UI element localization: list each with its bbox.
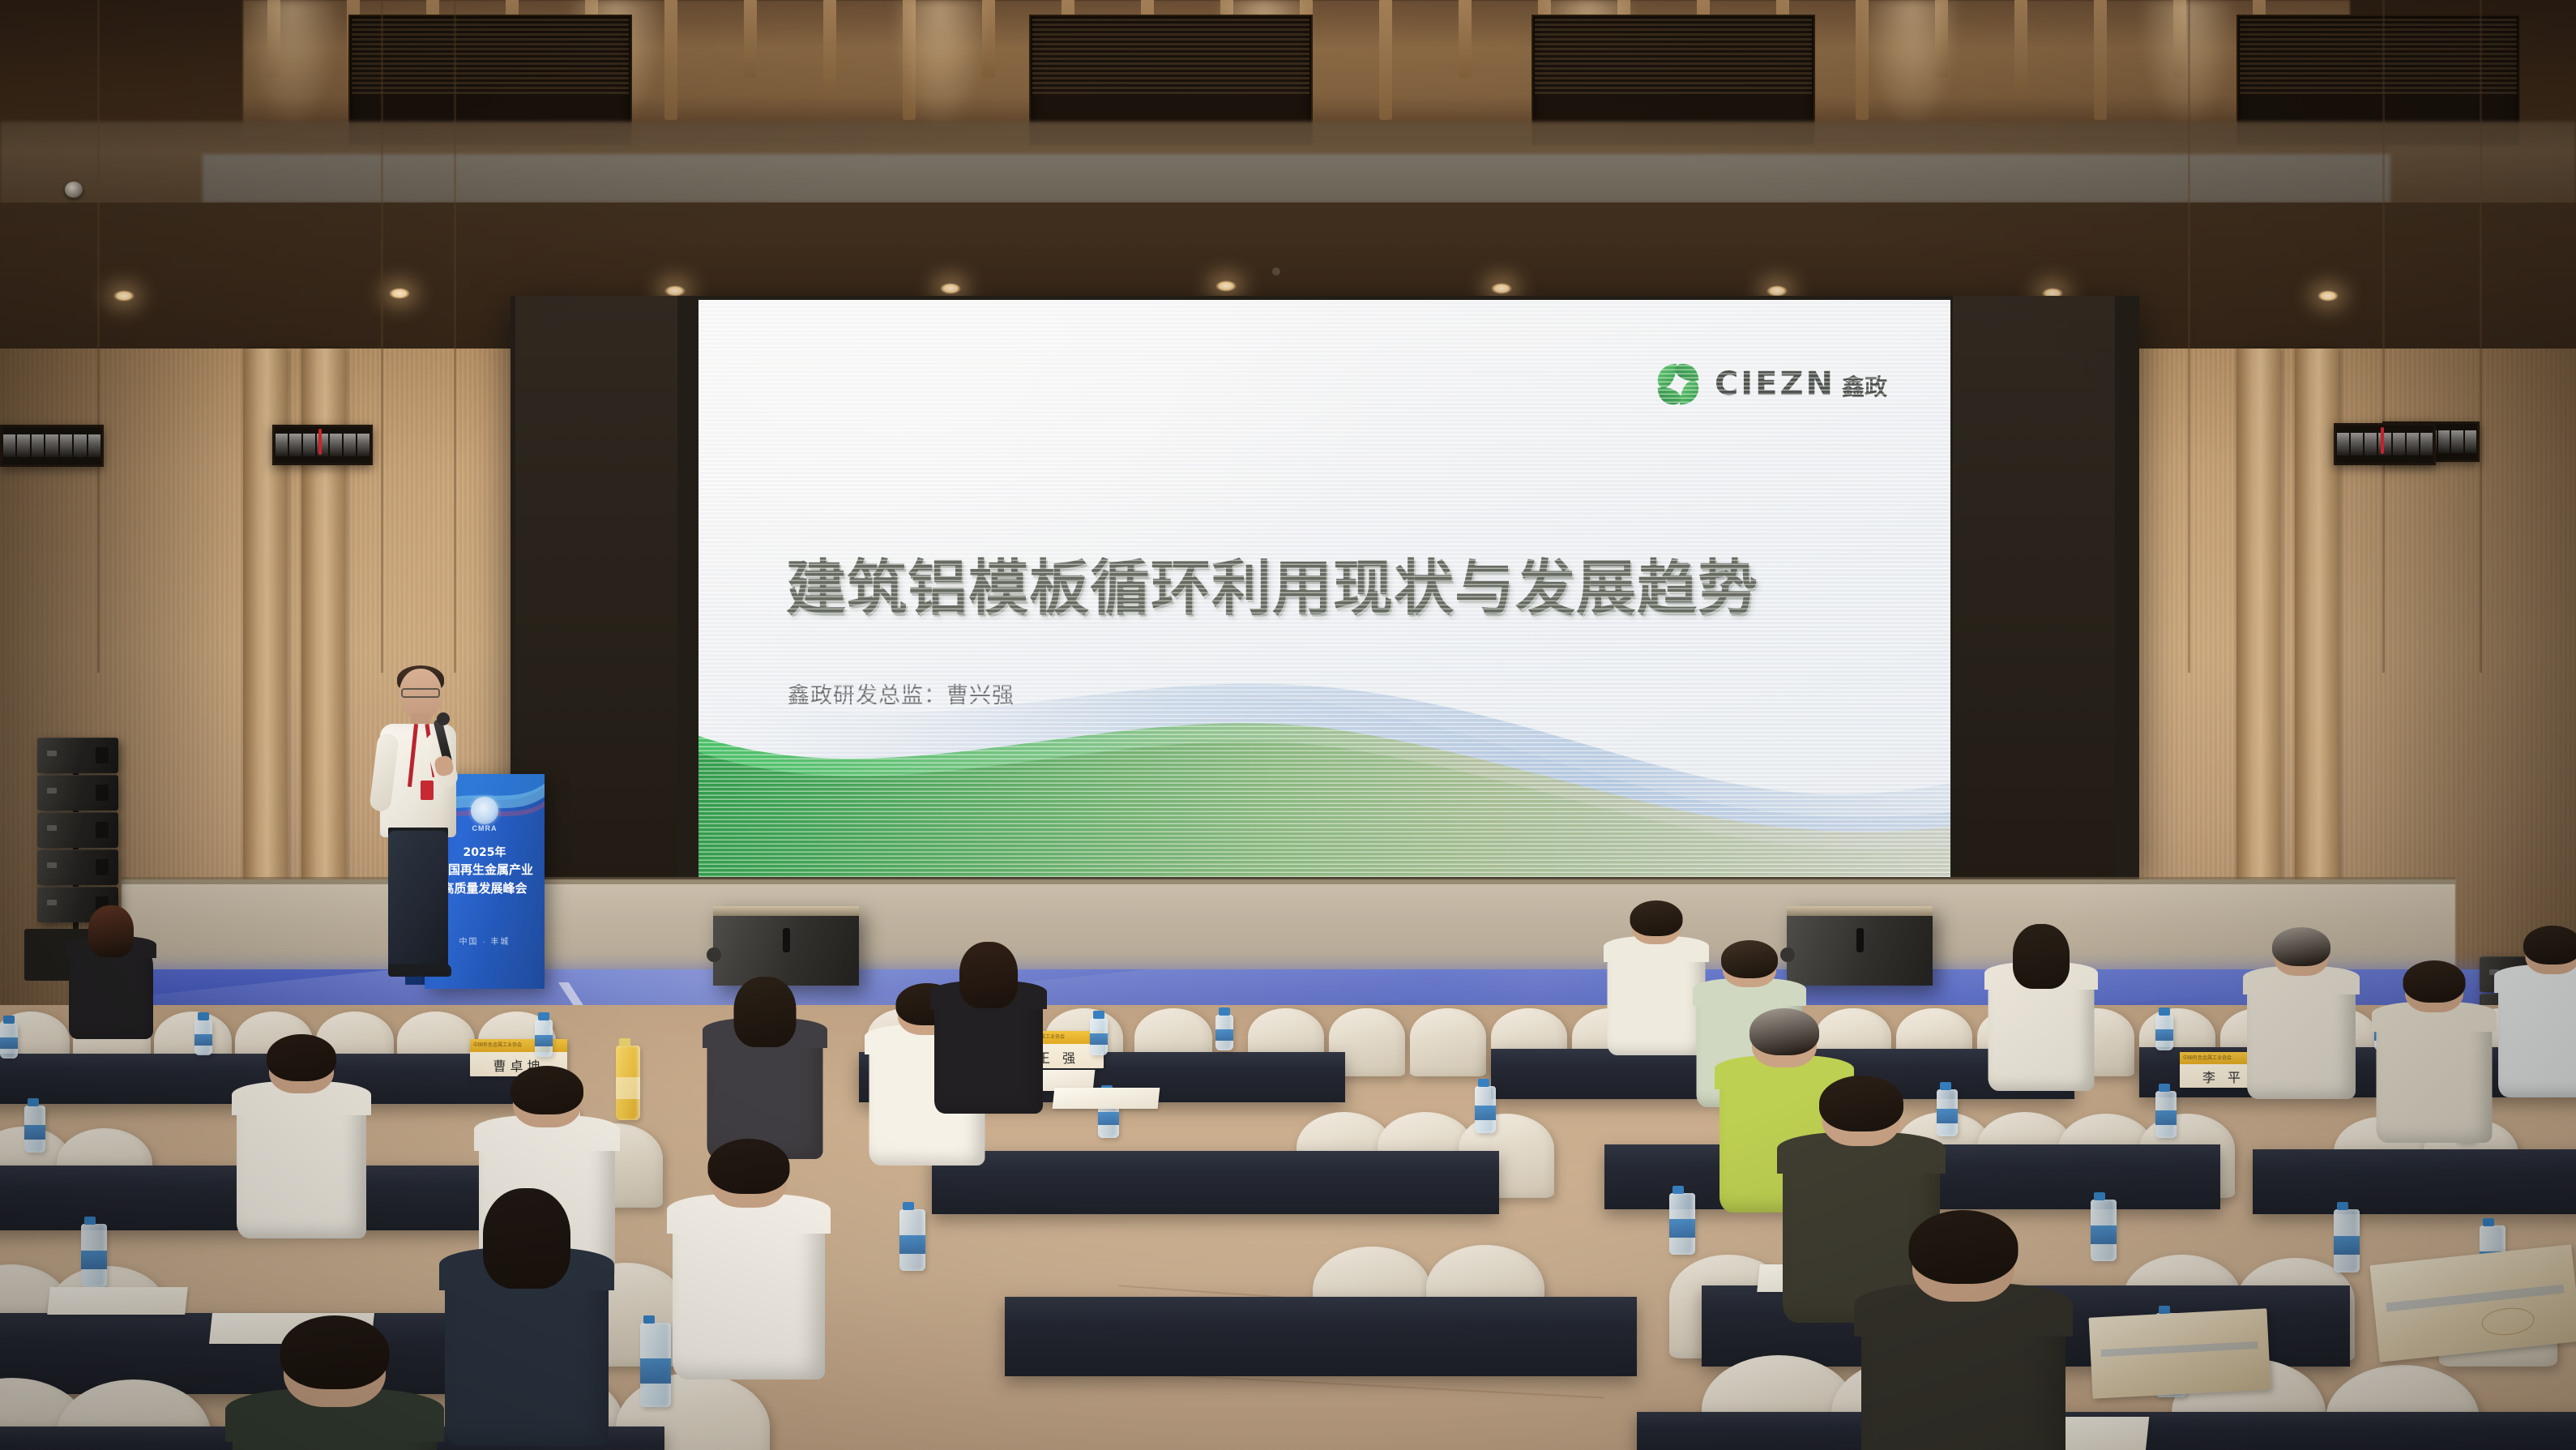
monitor-top-cap (1787, 906, 1933, 916)
ceiling-baffle (1379, 0, 1392, 120)
audience-member-hair (2272, 927, 2330, 966)
vent-blade (289, 434, 301, 456)
water-bottle[interactable] (1937, 1089, 1958, 1136)
ceiling-light-cone (1864, 0, 1961, 130)
speaker-cabinet (37, 738, 118, 773)
vent-blade (32, 434, 44, 458)
bottle-cap (1219, 1007, 1230, 1016)
recessed-downlight (113, 290, 135, 302)
conference-program[interactable] (2089, 1308, 2271, 1398)
audience-member-hair (708, 1139, 790, 1194)
audience-member (243, 1023, 359, 1260)
table-row-2-center (932, 1151, 1499, 1214)
bottle-cap (84, 1217, 96, 1225)
bottle-label (24, 1125, 45, 1139)
monitor-handle-slot (1856, 928, 1864, 952)
recessed-downlight (389, 288, 410, 299)
bottle-cap (2483, 1218, 2494, 1226)
audience-member (2504, 916, 2576, 1115)
wall-panel-seam (381, 0, 383, 673)
vent-blade (88, 434, 100, 458)
water-bottle[interactable] (194, 1020, 212, 1055)
vent-blade (330, 434, 342, 456)
presentation-slide: CIEZN 鑫政 建筑铝模板循环利用现状与发展趋势 鑫政研发总监：曹兴强 (698, 300, 1950, 877)
bottle-cap (1478, 1079, 1489, 1087)
water-bottle[interactable] (899, 1209, 925, 1271)
vent-blade (2465, 430, 2476, 452)
bottle-label (1098, 1112, 1119, 1126)
audience-member (2382, 950, 2486, 1162)
speaker-cabinet (37, 812, 118, 848)
slide-wave-graphic (698, 610, 1950, 877)
cmra-emblem-label: CMRA (472, 824, 498, 832)
vent-blade (2420, 433, 2433, 456)
water-bottle[interactable] (2155, 1091, 2177, 1138)
booklet-seal (2480, 1305, 2535, 1337)
ceiling-baffle (2094, 0, 2107, 120)
vent-blade (17, 434, 29, 458)
vent-blade (2451, 430, 2463, 452)
audience-member (73, 898, 148, 1053)
ceiling-baffle (1459, 0, 1472, 78)
speaker-cabinet (37, 849, 118, 885)
bottle-label (640, 1358, 671, 1384)
bottle-cap (1672, 1186, 1684, 1194)
airflow-ribbon-indicator (2381, 427, 2384, 454)
audience-member-hair (2013, 924, 2070, 989)
ceiling-sprinkler-icon (1272, 267, 1280, 276)
recessed-downlight (1491, 283, 1512, 294)
vent-blade (2351, 433, 2363, 456)
presenter-shoe-left (388, 964, 421, 977)
speaker-stack-left (37, 738, 118, 924)
stage-monitor-right (1787, 906, 1933, 986)
bottle-cap (3, 1016, 15, 1024)
vent-blade (2337, 433, 2349, 456)
water-bottle[interactable] (640, 1323, 671, 1407)
audience-member (681, 1125, 817, 1405)
table-row-3-center (1005, 1297, 1637, 1376)
audience-member-hair (267, 1034, 336, 1081)
audience-member-hair (1749, 1008, 1819, 1055)
monitor-handle-slot (783, 928, 790, 952)
placard-org-text: 中国有色金属工业协会 (470, 1039, 567, 1050)
presenter-shoe-right (419, 964, 451, 977)
water-bottle[interactable] (2091, 1200, 2117, 1261)
ceiling-baffle (664, 0, 677, 120)
wall-panel-seam (2188, 0, 2190, 673)
water-bottle[interactable] (2334, 1209, 2360, 1272)
bottle-cap (643, 1315, 655, 1324)
audience-member-hair (483, 1188, 570, 1289)
water-bottle[interactable] (24, 1106, 45, 1153)
ciezn-propeller-logo-icon (1653, 359, 1703, 409)
ceiling-light-cone (891, 0, 989, 130)
bottle-label (899, 1235, 925, 1254)
vent-blade (60, 434, 72, 458)
audience-member (940, 932, 1037, 1131)
wall-air-diffuser-far-right (2334, 423, 2436, 465)
glasses-icon (401, 688, 440, 698)
vent-blade (303, 434, 315, 456)
bottle-label (0, 1037, 18, 1048)
booklet-banner (2101, 1341, 2258, 1357)
slide-brand-logo: CIEZN 鑫政 (1653, 359, 1887, 409)
microphone-capsule (437, 712, 450, 725)
notepad[interactable] (1053, 1088, 1160, 1109)
water-bottle[interactable] (1090, 1018, 1108, 1055)
bottle-label (2334, 1236, 2360, 1255)
name-badge (421, 781, 434, 800)
audience-member-hair (2523, 926, 2576, 965)
conference-program[interactable] (2369, 1244, 2576, 1362)
ceiling-baffle (2014, 0, 2027, 99)
vent-blade (344, 434, 356, 456)
audience-member-hair (959, 942, 1018, 1008)
water-bottle[interactable] (1669, 1193, 1695, 1255)
vent-blade (2365, 433, 2377, 456)
bottle-label (1669, 1219, 1695, 1238)
vent-blade (2407, 433, 2419, 456)
audience-member (1872, 1191, 2054, 1450)
audience-member-hair (1721, 940, 1778, 978)
vent-blade (45, 434, 58, 458)
bottle-cap (198, 1012, 209, 1020)
bottle-cap (619, 1038, 630, 1046)
bottle-label (194, 1034, 212, 1045)
audience-member (243, 1297, 425, 1450)
wall-air-diffuser-far-left (0, 425, 104, 467)
audience-member-hair (1630, 900, 1683, 936)
bottle-cap (2159, 1306, 2170, 1314)
bottle-label (1090, 1033, 1108, 1045)
audience-member-hair (734, 977, 797, 1047)
vent-blade (357, 434, 370, 456)
bottle-cap (1093, 1011, 1104, 1019)
water-bottle[interactable] (535, 1020, 553, 1057)
water-bottle[interactable] (2155, 1015, 2173, 1050)
audience-member-hair (2403, 960, 2466, 1003)
airflow-ribbon-indicator (318, 429, 322, 455)
bottle-label (1937, 1109, 1958, 1123)
bottle-cap (2159, 1084, 2170, 1092)
presenter-figure (369, 669, 458, 993)
slide-subtitle: 鑫政研发总监：曹兴强 (788, 678, 1015, 709)
bottle-cap (903, 1202, 914, 1210)
ceiling-soffit-secondary (203, 154, 2390, 203)
bottle-label (1475, 1106, 1496, 1119)
bottle-label (2155, 1110, 2177, 1124)
logo-text-latin: CIEZN (1715, 366, 1835, 403)
audience-member-hair (1908, 1210, 2018, 1284)
bottle-cap (2337, 1202, 2348, 1210)
ceiling-baffle (744, 0, 757, 78)
water-bottle[interactable] (81, 1224, 107, 1287)
water-bottle[interactable] (1215, 1015, 1233, 1050)
audience-member-hair (1819, 1076, 1903, 1131)
security-camera-icon (65, 182, 83, 198)
audience-member-hair (280, 1315, 389, 1389)
monitor-top-cap (713, 906, 859, 916)
water-bottle[interactable] (1475, 1086, 1496, 1133)
audience-member (454, 1174, 600, 1450)
water-bottle[interactable] (0, 1023, 18, 1059)
bottle-cap (2094, 1192, 2105, 1200)
cmra-emblem-icon (471, 797, 498, 824)
vent-blade (2438, 430, 2450, 452)
bottle-cap (28, 1098, 39, 1106)
presenter-trousers (388, 831, 448, 969)
monitor-knob (707, 947, 721, 962)
conference-hall-scene: CIEZN 鑫政 建筑铝模板循环利用现状与发展趋势 鑫政研发总监：曹兴强 ❯ (0, 0, 2576, 1450)
logo-text-chinese: 鑫政 (1842, 370, 1887, 402)
tea-bottle[interactable] (616, 1046, 640, 1120)
booklet-banner (2386, 1285, 2564, 1312)
chair[interactable] (1410, 1008, 1486, 1076)
vent-blade (74, 434, 86, 458)
audience-member (1993, 914, 2088, 1109)
ceiling-light-cone (243, 0, 340, 130)
bottle-label (616, 1077, 640, 1100)
recessed-downlight (940, 283, 961, 294)
bottle-label (2091, 1225, 2117, 1244)
screen-bezel-right (1953, 296, 2115, 879)
speaker-cabinet (37, 775, 118, 811)
slide-title: 建筑铝模板循环利用现状与发展趋势 (786, 540, 1920, 627)
audience-member-hair (511, 1066, 583, 1114)
ceiling-baffle (823, 0, 836, 99)
notepad[interactable] (47, 1287, 188, 1315)
logo-wordmark: CIEZN 鑫政 (1715, 366, 1887, 403)
placard-org-band: 中国有色金属工业协会 (470, 1039, 567, 1052)
vent-blade (3, 434, 15, 458)
bottle-label (1215, 1029, 1233, 1040)
recessed-downlight (1766, 285, 1788, 297)
wall-panel-seam (454, 0, 456, 673)
bottle-label (2155, 1029, 2173, 1040)
bottle-label (81, 1251, 107, 1269)
recessed-downlight (2318, 290, 2339, 302)
vent-blade (2393, 433, 2405, 456)
audience-member (1613, 892, 1700, 1071)
audience-member (2253, 917, 2350, 1117)
vent-blade (276, 434, 288, 456)
bottle-cap (1940, 1082, 1951, 1090)
bottle-cap (538, 1012, 549, 1020)
recessed-downlight (664, 285, 686, 297)
recessed-downlight (1215, 280, 1237, 292)
wall-air-diffuser-left (272, 425, 373, 465)
bottle-label (535, 1035, 553, 1046)
bottle-cap (2159, 1007, 2170, 1016)
audience-member-hair (88, 905, 134, 957)
